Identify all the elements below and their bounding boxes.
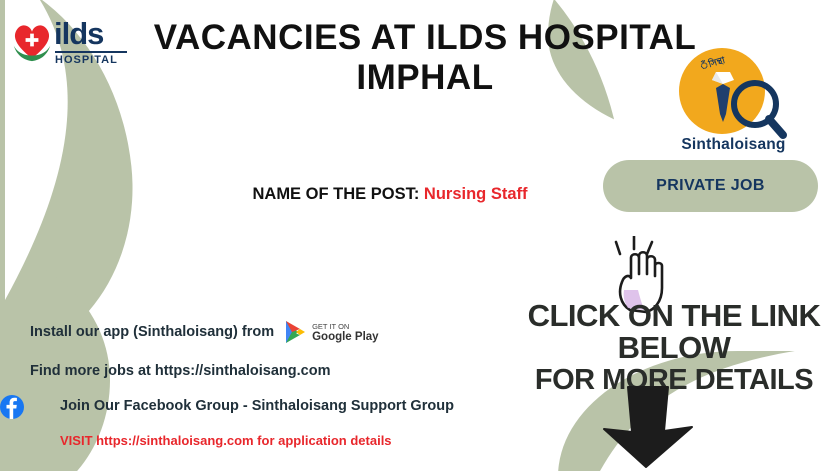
page-title: VACANCIES AT ILDS HOSPITAL IMPHAL	[120, 18, 730, 98]
logo-divider	[55, 51, 127, 53]
google-play-bottom: Google Play	[312, 332, 378, 342]
badge-name: Sinthaloisang	[651, 136, 816, 154]
info-block: Install our app (Sinthaloisang) from GET…	[30, 320, 550, 448]
click-line-2: BELOW	[524, 332, 824, 364]
post-label: NAME OF THE POST:	[252, 185, 419, 203]
job-type-label: PRIVATE JOB	[656, 177, 765, 195]
heart-hands-icon	[10, 18, 54, 62]
logo-subtitle: HOSPITAL	[55, 54, 118, 66]
post-value: Nursing Staff	[424, 185, 528, 203]
logo-wordmark: ilds	[54, 16, 103, 52]
find-jobs-row[interactable]: Find more jobs at https://sinthaloisang.…	[30, 363, 550, 379]
google-play-badge[interactable]: GET IT ON Google Play	[284, 320, 378, 344]
facebook-text: Join Our Facebook Group - Sinthaloisang …	[60, 398, 454, 414]
poster-canvas: ilds HOSPITAL VACANCIES AT ILDS HOSPITAL…	[0, 0, 838, 471]
facebook-icon	[0, 395, 24, 419]
magnifier-icon	[727, 78, 787, 140]
down-arrow-icon	[590, 385, 710, 469]
ilds-logo: ilds HOSPITAL	[8, 10, 128, 84]
facebook-row[interactable]: Join Our Facebook Group - Sinthaloisang …	[30, 398, 550, 414]
click-instruction-block: CLICK ON THE LINK BELOW FOR MORE DETAILS	[524, 300, 824, 396]
job-type-badge: PRIVATE JOB	[603, 160, 818, 212]
install-app-row: Install our app (Sinthaloisang) from GET…	[30, 320, 550, 344]
google-play-icon	[284, 320, 306, 344]
sinthaloisang-badge: ঁসিন্থা Sinthaloisang	[651, 48, 816, 158]
click-line-1: CLICK ON THE LINK	[524, 300, 824, 332]
post-name-line: NAME OF THE POST: Nursing Staff	[180, 185, 600, 204]
visit-row[interactable]: VISIT https://sinthaloisang.com for appl…	[30, 433, 550, 448]
google-play-label: GET IT ON Google Play	[312, 322, 378, 342]
install-app-text: Install our app (Sinthaloisang) from	[30, 324, 274, 340]
